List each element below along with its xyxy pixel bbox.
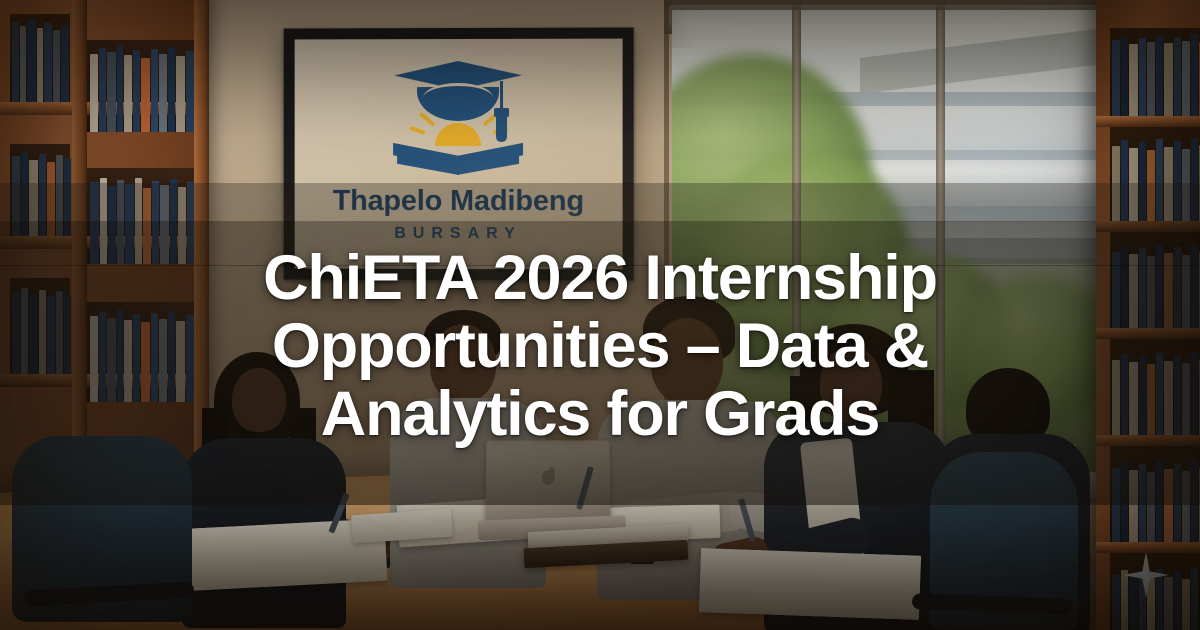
- headline-line-3: Analytics for Grads: [90, 380, 1110, 448]
- headline-line-1: ChiETA 2026 Internship: [90, 244, 1110, 312]
- hero-banner: Thapelo Madibeng BURSARY: [0, 0, 1200, 630]
- overlay-band-top: [0, 183, 1200, 221]
- headline-line-2: Opportunities – Data &: [90, 312, 1110, 380]
- page-title: ChiETA 2026 Internship Opportunities – D…: [0, 244, 1200, 448]
